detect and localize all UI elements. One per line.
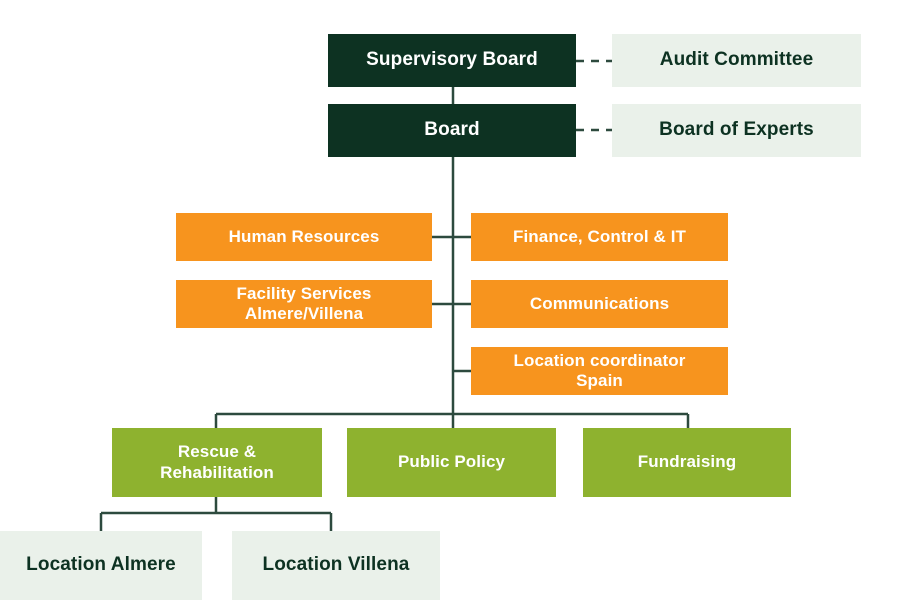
node-location-villena[interactable]: Location Villena <box>232 531 440 600</box>
org-chart: Supervisory Board Audit Committee Board … <box>0 0 900 611</box>
node-human-resources-label: Human Resources <box>229 227 380 247</box>
node-fundraising[interactable]: Fundraising <box>583 428 791 497</box>
node-communications[interactable]: Communications <box>471 280 728 328</box>
node-location-almere-label: Location Almere <box>26 554 176 577</box>
node-supervisory-board-label: Supervisory Board <box>366 49 538 72</box>
node-public-policy-label: Public Policy <box>398 452 505 472</box>
connector-lines <box>0 0 900 611</box>
node-supervisory-board[interactable]: Supervisory Board <box>328 34 576 87</box>
node-public-policy[interactable]: Public Policy <box>347 428 556 497</box>
node-finance-control-it-label: Finance, Control & IT <box>513 227 686 247</box>
node-audit-committee-label: Audit Committee <box>660 49 814 72</box>
node-rescue-rehabilitation-label: Rescue & Rehabilitation <box>160 442 274 483</box>
node-board-of-experts-label: Board of Experts <box>659 119 814 142</box>
node-board[interactable]: Board <box>328 104 576 157</box>
node-human-resources[interactable]: Human Resources <box>176 213 432 261</box>
node-location-almere[interactable]: Location Almere <box>0 531 202 600</box>
node-facility-services-label: Facility Services Almere/Villena <box>237 284 372 325</box>
node-rescue-rehabilitation[interactable]: Rescue & Rehabilitation <box>112 428 322 497</box>
node-audit-committee[interactable]: Audit Committee <box>612 34 861 87</box>
node-finance-control-it[interactable]: Finance, Control & IT <box>471 213 728 261</box>
node-facility-services[interactable]: Facility Services Almere/Villena <box>176 280 432 328</box>
node-board-label: Board <box>424 119 479 142</box>
node-board-of-experts[interactable]: Board of Experts <box>612 104 861 157</box>
node-location-coordinator-spain-label: Location coordinator Spain <box>514 351 686 392</box>
node-communications-label: Communications <box>530 294 669 314</box>
node-location-villena-label: Location Villena <box>263 554 410 577</box>
node-fundraising-label: Fundraising <box>638 452 736 472</box>
node-location-coordinator-spain[interactable]: Location coordinator Spain <box>471 347 728 395</box>
